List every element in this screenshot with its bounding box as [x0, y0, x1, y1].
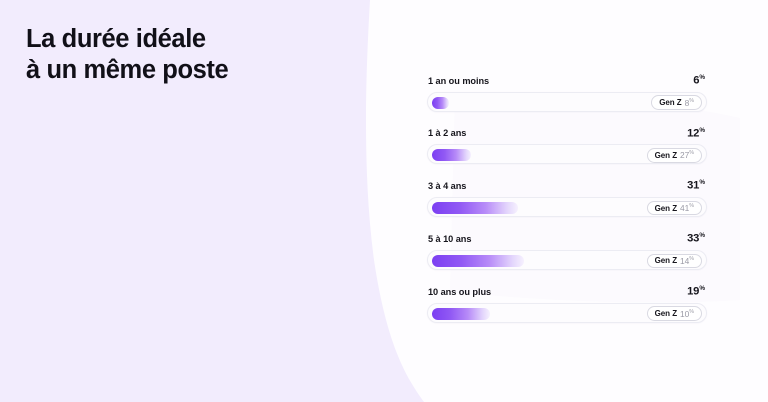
chart-row: 5 à 10 ans 33% Gen Z 14%	[427, 232, 707, 270]
chart-row-label: 1 an ou moins	[428, 76, 489, 86]
genz-badge-label: Gen Z	[655, 256, 677, 265]
chart-row-value: 31%	[687, 179, 705, 192]
chart-row-value-number: 33	[687, 233, 699, 245]
chart-row-value: 33%	[687, 232, 705, 245]
chart-row-value-number: 19	[687, 286, 699, 298]
chart-row-value-number: 12	[687, 127, 699, 139]
genz-badge: Gen Z 14%	[647, 254, 702, 269]
chart-row-label: 5 à 10 ans	[428, 234, 471, 244]
bar-fill	[432, 97, 449, 109]
genz-badge-number: 10	[680, 309, 689, 319]
genz-badge-label: Gen Z	[655, 204, 677, 213]
page-title: La durée idéale à un même poste	[26, 24, 356, 87]
genz-badge-label: Gen Z	[655, 309, 677, 318]
bar-track: Gen Z 41%	[427, 197, 707, 217]
bar-track: Gen Z 14%	[427, 250, 707, 270]
chart-row-header: 1 an ou moins 6%	[427, 74, 707, 87]
duration-chart: 1 an ou moins 6% Gen Z 8% 1 à 2 ans 12% …	[427, 74, 707, 323]
genz-badge-value: 41%	[680, 203, 694, 213]
bar-fill	[432, 202, 518, 214]
bar-track: Gen Z 27%	[427, 144, 707, 164]
percent-symbol: %	[699, 285, 705, 292]
genz-badge: Gen Z 10%	[647, 306, 702, 321]
genz-badge: Gen Z 41%	[647, 201, 702, 216]
bar-fill	[432, 255, 524, 267]
chart-row-header: 3 à 4 ans 31%	[427, 179, 707, 192]
bar-track: Gen Z 10%	[427, 303, 707, 323]
chart-row-header: 10 ans ou plus 19%	[427, 285, 707, 298]
genz-percent-symbol: %	[689, 98, 694, 104]
genz-badge-label: Gen Z	[655, 151, 677, 160]
chart-row-value: 6%	[693, 74, 705, 87]
genz-badge-number: 14	[680, 256, 689, 266]
percent-symbol: %	[699, 232, 705, 239]
genz-badge-value: 8%	[685, 98, 694, 108]
genz-badge: Gen Z 8%	[651, 95, 702, 110]
percent-symbol: %	[699, 127, 705, 134]
genz-percent-symbol: %	[689, 203, 694, 209]
bar-fill	[432, 149, 471, 161]
genz-percent-symbol: %	[689, 151, 694, 157]
bar-track: Gen Z 8%	[427, 92, 707, 112]
genz-percent-symbol: %	[689, 256, 694, 262]
chart-row-label: 10 ans ou plus	[428, 287, 491, 297]
genz-badge-value: 27%	[680, 150, 694, 160]
chart-row-value: 12%	[687, 127, 705, 140]
genz-badge-number: 27	[680, 150, 689, 160]
genz-badge: Gen Z 27%	[647, 148, 702, 163]
infographic-canvas: La durée idéale à un même poste 1 an ou …	[0, 0, 768, 402]
chart-row: 3 à 4 ans 31% Gen Z 41%	[427, 179, 707, 217]
percent-symbol: %	[699, 74, 705, 81]
chart-row-value-number: 31	[687, 180, 699, 192]
bar-fill	[432, 308, 490, 320]
chart-row-header: 1 à 2 ans 12%	[427, 127, 707, 140]
chart-row-header: 5 à 10 ans 33%	[427, 232, 707, 245]
chart-row: 1 à 2 ans 12% Gen Z 27%	[427, 127, 707, 165]
chart-row: 1 an ou moins 6% Gen Z 8%	[427, 74, 707, 112]
genz-badge-label: Gen Z	[659, 98, 681, 107]
percent-symbol: %	[699, 179, 705, 186]
chart-row-label: 3 à 4 ans	[428, 181, 466, 191]
genz-badge-value: 10%	[680, 309, 694, 319]
genz-badge-value: 14%	[680, 256, 694, 266]
genz-badge-number: 41	[680, 203, 689, 213]
chart-row: 10 ans ou plus 19% Gen Z 10%	[427, 285, 707, 323]
chart-row-value: 19%	[687, 285, 705, 298]
genz-percent-symbol: %	[689, 309, 694, 315]
chart-row-label: 1 à 2 ans	[428, 128, 466, 138]
